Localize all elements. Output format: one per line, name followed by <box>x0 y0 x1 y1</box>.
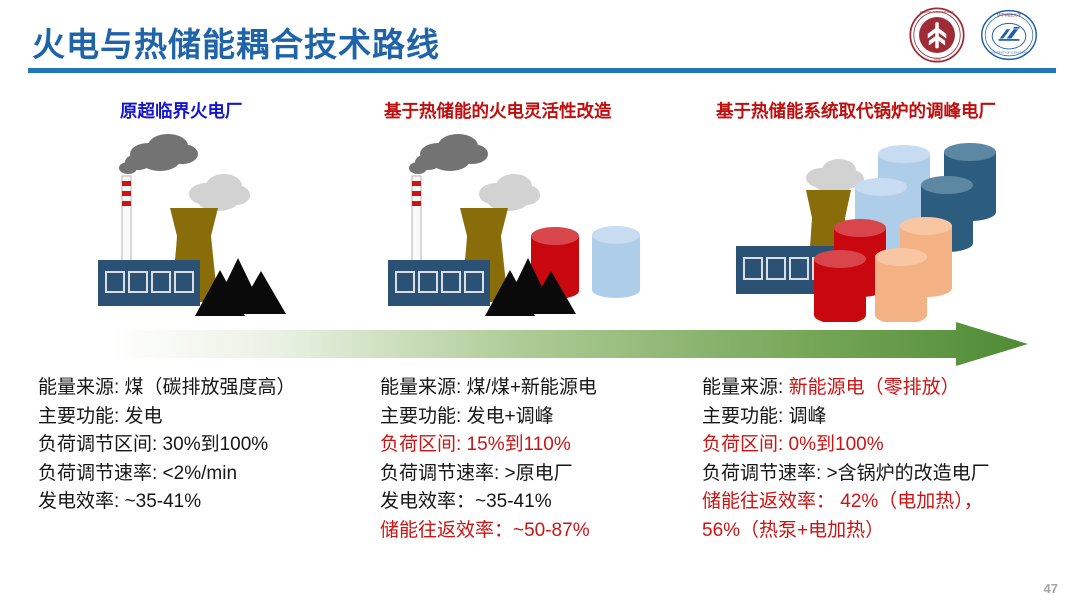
chimney-stack <box>412 176 421 268</box>
column-header-retrofit-plant: 基于热储能的火电灵活性改造 <box>384 98 612 123</box>
illustration-coal-power-plant <box>78 132 368 322</box>
spec-item: 能量来源: 煤（碳排放强度高） <box>38 374 368 403</box>
storage-tank-peach-front <box>875 248 927 322</box>
illustration-thermal-storage-peaking-plant <box>718 132 1058 322</box>
spec-item-mixed: 能量来源: 新能源电（零排放） <box>702 374 1072 403</box>
spec-item-highlight: 储能往返效率： 42%（电加热）， <box>702 488 1072 517</box>
plant-building <box>388 260 490 306</box>
storage-tank-hot-red-front <box>814 250 866 322</box>
smoke-dark-cloud <box>119 134 198 174</box>
page-title: 火电与热储能耦合技术路线 <box>32 18 440 66</box>
spec-item: 负荷调节区间: 30%到100% <box>38 431 368 460</box>
spec-list-original-plant: 能量来源: 煤（碳排放强度高） 主要功能: 发电 负荷调节区间: 30%到100… <box>38 374 368 517</box>
spec-item-highlight: 负荷区间: 0%到100% <box>702 431 1072 460</box>
svg-text:PEKING UNIVERSITY: PEKING UNIVERSITY <box>920 10 955 14</box>
svg-text:UNIVERSITY OF SCIENCE AND: UNIVERSITY OF SCIENCE AND <box>991 52 1028 55</box>
spec-item: 主要功能: 发电 <box>38 403 368 432</box>
spec-item: 发电效率: ~35-41% <box>38 488 368 517</box>
page-number: 47 <box>1044 581 1058 596</box>
chimney-stack <box>122 176 131 268</box>
spec-item-highlight: 56%（热泵+电加热） <box>702 517 1072 546</box>
spec-item: 负荷调节速率: >含锅炉的改造电厂 <box>702 460 1072 489</box>
smoke-dark-cloud <box>409 134 488 174</box>
spec-list-retrofit-plant: 能量来源: 煤/煤+新能源电 主要功能: 发电+调峰 负荷区间: 15%到110… <box>380 374 690 545</box>
logo-group: PEKING UNIVERSITY ·1898· 华中科技大学 UNIVERSI… <box>908 6 1058 64</box>
title-underline-rule <box>28 68 1056 73</box>
cold-storage-tank <box>592 226 640 298</box>
spec-item-highlight: 储能往返效率：~50-87% <box>380 517 690 546</box>
spec-item-prefix: 能量来源: <box>702 377 789 398</box>
column-header-original-plant: 原超临界火电厂 <box>120 98 243 123</box>
column-header-peaking-plant: 基于热储能系统取代锅炉的调峰电厂 <box>716 98 996 123</box>
svg-text:华中科技大学: 华中科技大学 <box>997 11 1021 17</box>
spec-item: 负荷调节速率: <2%/min <box>38 460 368 489</box>
spec-item: 发电效率：~35-41% <box>380 488 690 517</box>
spec-item-highlight: 负荷区间: 15%到110% <box>380 431 690 460</box>
spec-item-highlight-run: 新能源电（零排放） <box>789 377 960 398</box>
illustration-retrofit-plant-with-storage <box>368 132 668 322</box>
peking-university-logo: PEKING UNIVERSITY ·1898· <box>908 6 966 64</box>
spec-list-peaking-plant: 能量来源: 新能源电（零排放） 主要功能: 调峰 负荷区间: 0%到100% 负… <box>702 374 1072 545</box>
spec-item: 主要功能: 调峰 <box>702 403 1072 432</box>
hust-logo: 华中科技大学 UNIVERSITY OF SCIENCE AND <box>980 6 1038 64</box>
evolution-arrow <box>110 322 1028 366</box>
smoke-light-cloud <box>479 174 540 211</box>
spec-item: 负荷调节速率: >原电厂 <box>380 460 690 489</box>
svg-text:·1898·: ·1898· <box>932 58 941 62</box>
spec-item: 主要功能: 发电+调峰 <box>380 403 690 432</box>
plant-building <box>98 260 200 306</box>
smoke-light-cloud <box>189 174 250 211</box>
spec-item: 能量来源: 煤/煤+新能源电 <box>380 374 690 403</box>
